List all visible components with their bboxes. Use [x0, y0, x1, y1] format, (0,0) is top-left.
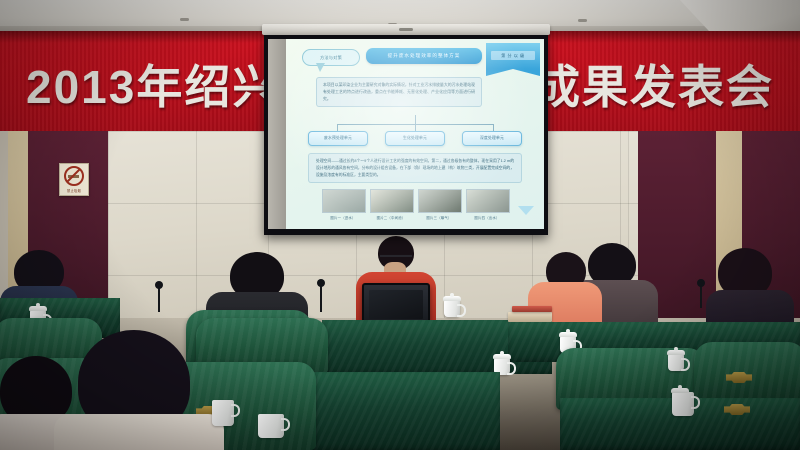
slide-thumbnail-image: [418, 189, 462, 213]
projector-screen-side-bar: [268, 39, 286, 229]
ceiling-fixture-icon: [180, 18, 189, 21]
slide-thumbnail-image: [370, 189, 414, 213]
teacup-lid: [29, 306, 47, 311]
teacup: [672, 392, 694, 416]
slide-ribbon-badge: 第 分 以 级: [486, 43, 540, 69]
slide-thumbnail-item: 图片一（进水）: [322, 189, 364, 220]
projector-screen-valance: [262, 24, 550, 35]
slide-thumbnail-item: 图片四（出水）: [466, 189, 508, 220]
no-smoking-sign: 禁止吸烟: [59, 163, 89, 196]
slide-paragraph: 本项目以某印染企业为主要研究对象的实际情况，针对工业污水排放量大的污水处理站现有…: [316, 77, 482, 107]
teacup-lid: [667, 350, 685, 355]
slide-thumbnail-item: 图片二（中间池）: [370, 189, 412, 220]
slide-node: 生化处理单元: [385, 131, 445, 146]
slide-node-label: 废水预处理单元: [324, 136, 352, 141]
teacup-lid: [493, 354, 511, 359]
slide-thumbnail-image: [322, 189, 366, 213]
slide-node-label: 深度处理单元: [480, 136, 504, 141]
slide-title-text: 提升废水处理效率的整体方案: [388, 53, 461, 59]
cigarette-icon: [68, 175, 79, 178]
slide-callout-bubble: 方法与对策: [302, 49, 360, 66]
slide-node: 深度处理单元: [462, 131, 522, 146]
audience-chair: [694, 342, 800, 404]
slide-paragraph-secondary: 处理空间——通过长约8个～9个人进行设计工艺的强度的有效空间，第二，通过各级各有…: [308, 153, 522, 183]
microphone: [320, 286, 322, 312]
documents-stack: [508, 312, 552, 322]
microphone: [700, 286, 702, 308]
callout-tail-icon: [316, 63, 325, 72]
slide-title-bar: 提升废水处理效率的整体方案: [366, 48, 482, 64]
slide-thumbnail-image: [466, 189, 510, 213]
teacup-lid: [559, 332, 577, 337]
slide-thumbnail-caption: 图片三（曝气）: [418, 215, 460, 220]
teacup: [258, 414, 284, 438]
slide-thumbnail-row: 图片一（进水） 图片二（中间池） 图片三（曝气） 图片四（出水）: [322, 189, 508, 220]
attendee-body: [54, 414, 224, 450]
slide-callout-text: 方法与对策: [320, 55, 342, 61]
teacup-lid: [443, 296, 461, 301]
teacup: [668, 354, 684, 371]
teacup-lid: [671, 388, 689, 393]
slide-node: 废水预处理单元: [308, 131, 368, 146]
slide-thumbnail-item: 图片三（曝气）: [418, 189, 460, 220]
slide-ribbon-text: 第 分 以 级: [501, 53, 525, 59]
slide-node-label: 生化处理单元: [403, 136, 427, 141]
slide-ribbon-inner: 第 分 以 级: [491, 51, 535, 60]
documents-stack: [512, 306, 552, 312]
slide-thumbnail-caption: 图片二（中间池）: [370, 215, 412, 220]
teacup: [444, 300, 460, 317]
conference-hall-photo: 2013年绍兴市 )成果发表会 禁止吸烟 方法与对策 提升废水处理效率的整体方案…: [0, 0, 800, 450]
slide-node-row: 废水预处理单元 生化处理单元 深度处理单元: [308, 131, 522, 146]
no-smoking-icon: [64, 166, 84, 186]
slide-thumbnail-caption: 图片四（出水）: [466, 215, 508, 220]
ceiling-fixture-icon: [578, 19, 587, 22]
slide-thumbnail-caption: 图片一（进水）: [322, 215, 364, 220]
slide-corner-mark-icon: [518, 206, 534, 215]
presentation-slide: 方法与对策 提升废水处理效率的整体方案 第 分 以 级 本项目以某印染企业为主要…: [286, 39, 544, 229]
microphone: [158, 288, 160, 312]
teacup: [212, 400, 234, 426]
no-smoking-label: 禁止吸烟: [67, 188, 81, 193]
